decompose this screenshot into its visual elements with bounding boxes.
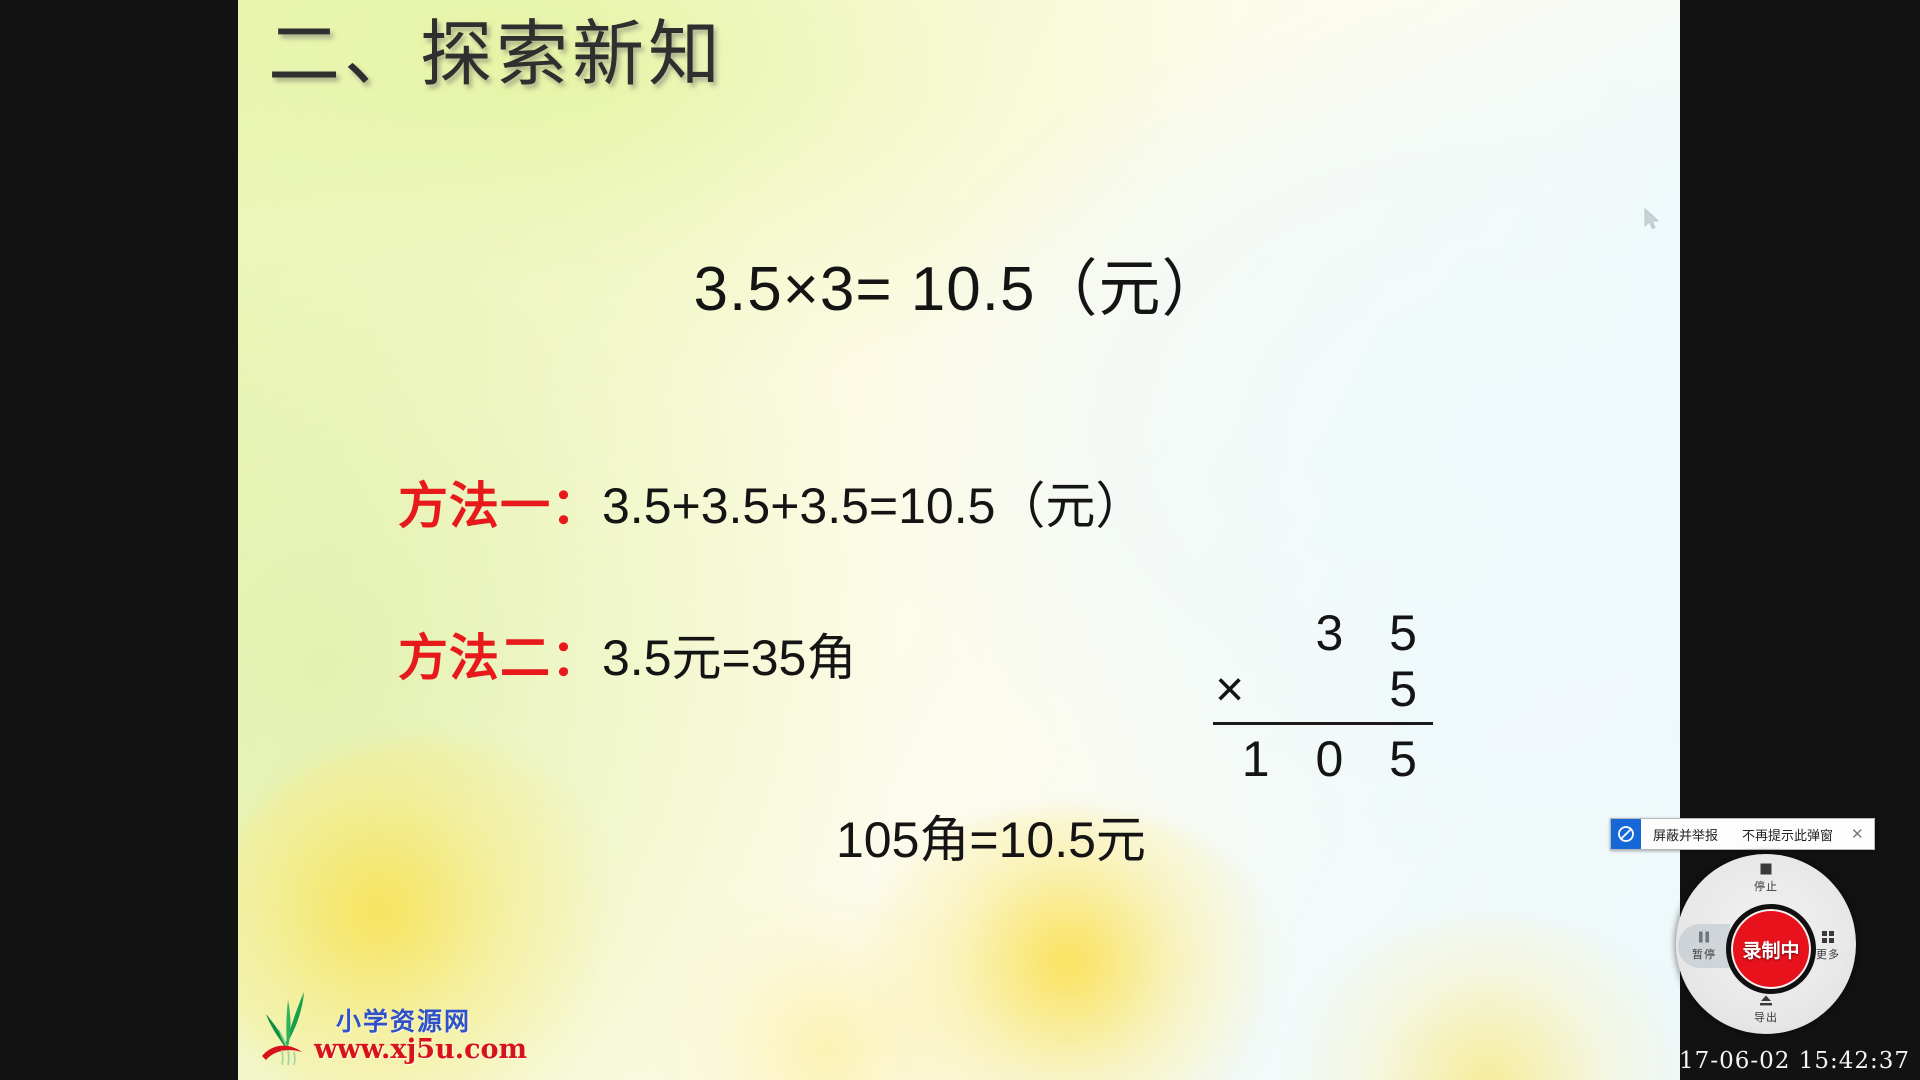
export-label: 导出 [1754,1009,1778,1025]
more-label: 更多 [1816,946,1840,962]
multiply-operator-icon: × [1215,661,1244,717]
multiplier: 5 [1389,661,1433,717]
flower-decoration-far-right [1278,920,1680,1080]
pause-label: 暂停 [1692,946,1716,962]
multiplier-row: ×5 [1213,661,1433,717]
video-letterbox-frame: 二、探索新知 3.5×3= 10.5（元） 方法一：3.5+3.5+3.5=10… [0,0,1920,1080]
vertical-multiplication: 3 5 ×5 1 0 5 [1213,605,1433,787]
method-two-row: 方法二：3.5元=35角 [398,618,856,690]
block-icon[interactable] [1611,819,1641,849]
flower-decoration-middle [618,900,1038,1080]
multiplicand: 3 5 [1213,605,1433,661]
method-one-row: 方法一：3.5+3.5+3.5=10.5（元） [398,466,1145,538]
watermark-logo: 小学资源网 www.xj5u.com [258,980,558,1072]
method-one-label: 方法一： [398,477,602,535]
pause-recording-button[interactable]: 暂停 [1678,924,1730,968]
method-one-expression: 3.5+3.5+3.5=10.5（元） [602,478,1145,534]
product: 1 0 5 [1213,731,1433,787]
calculation-rule-line [1213,722,1433,725]
slide-title: 二、探索新知 [268,18,724,90]
stop-recording-button[interactable]: 停止 [1736,858,1796,898]
presentation-slide: 二、探索新知 3.5×3= 10.5（元） 方法一：3.5+3.5+3.5=10… [238,0,1680,1080]
pause-bars-icon [1697,930,1711,944]
dont-show-again-button[interactable]: 不再提示此弹窗 [1730,825,1845,844]
timestamp-overlay: 2017-06-02 15:42:37 [1648,1048,1910,1074]
mouse-cursor-icon [1644,208,1662,232]
export-arrow-icon [1758,995,1774,1007]
close-icon[interactable]: ✕ [1845,825,1874,843]
watermark-site-name: 小学资源网 [336,1002,471,1038]
stop-label: 停止 [1754,878,1778,894]
recording-status-button[interactable]: 录制中 [1726,904,1816,994]
export-recording-button[interactable]: 导出 [1736,990,1796,1030]
grid-icon [1821,930,1835,944]
method-two-expression: 3.5元=35角 [602,630,856,686]
main-equation: 3.5×3= 10.5（元） [238,238,1680,328]
stop-square-icon [1759,862,1773,876]
screen-recorder-widget[interactable]: 停止 暂停 更多 导出 录制中 [1676,854,1856,1034]
report-popup[interactable]: 屏蔽并举报 不再提示此弹窗 ✕ [1610,818,1875,850]
block-and-report-button[interactable]: 屏蔽并举报 [1641,825,1730,844]
method-two-label: 方法二： [398,629,602,687]
watermark-url: www.xj5u.com [314,1034,527,1065]
conclusion-line: 105角=10.5元 [836,800,1146,872]
